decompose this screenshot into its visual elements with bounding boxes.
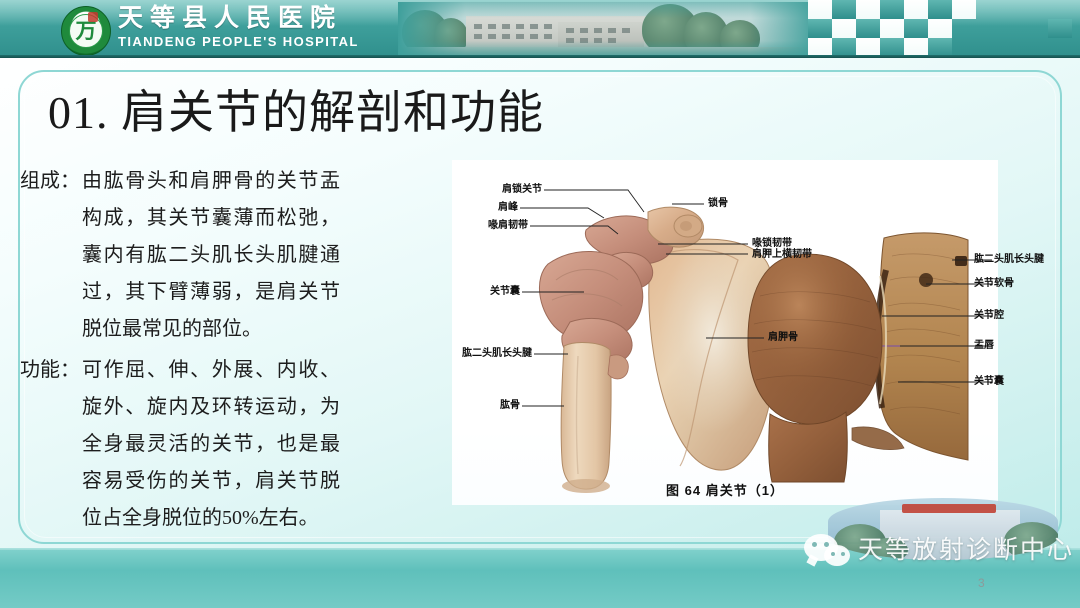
paragraph-text-function: 可作屈、伸、外展、内收、旋外、旋内及环转运动，为全身最灵活的关节，也是最容易受伤…: [82, 352, 340, 537]
anatomy-label-biceps-long-head-tendon-left: 肱二头肌长头腱: [452, 348, 532, 360]
watermark-text: 天等放射诊断中心: [858, 536, 1074, 566]
page-title: 01. 肩关节的解剖和功能: [48, 84, 544, 142]
anatomy-label-humerus: 肱骨: [452, 400, 520, 412]
wechat-watermark: 天等放射诊断中心: [800, 498, 1066, 584]
presentation-slide: 万 天等县人民医院 TIANDENG PEOPLE'S HOSPITAL: [0, 0, 1080, 608]
anatomy-label-scapula: 肩胛骨: [768, 332, 798, 344]
hospital-building-photo: [398, 2, 818, 56]
slide-header: 万 天等县人民医院 TIANDENG PEOPLE'S HOSPITAL: [0, 0, 1080, 58]
hospital-name-cn: 天等县人民医院: [118, 4, 359, 33]
paragraph-function: 功能： 可作屈、伸、外展、内收、旋外、旋内及环转运动，为全身最灵活的关节，也是最…: [20, 352, 340, 537]
page-number: 3: [978, 576, 985, 590]
figure-caption: 图 64 肩关节（1）: [452, 480, 998, 499]
anatomy-label-joint-capsule-right: 关节囊: [974, 376, 1004, 388]
paragraph-text-composition: 由肱骨头和肩胛骨的关节盂构成，其关节囊薄而松弛，囊内有肱二头肌长头肌腱通过，其下…: [82, 163, 340, 348]
hospital-name-en: TIANDENG PEOPLE'S HOSPITAL: [118, 33, 359, 50]
anatomy-label-joint-capsule-left: 关节囊: [452, 286, 520, 298]
anatomy-label-acromion: 肩峰: [452, 202, 518, 214]
paragraph-label-composition: 组成：: [20, 163, 82, 200]
hospital-logo-icon: 万: [58, 6, 114, 56]
hospital-name-block: 天等县人民医院 TIANDENG PEOPLE'S HOSPITAL: [118, 4, 359, 50]
wechat-icon: [804, 534, 852, 568]
logo-red-mark: [88, 12, 98, 22]
anatomy-label-coracoacromial-ligament: 喙肩韧带: [452, 220, 528, 232]
anatomy-label-glenoid-labrum: 盂唇: [974, 340, 994, 352]
paragraph-label-function: 功能：: [20, 352, 82, 389]
anatomy-label-acromioclavicular-joint: 肩锁关节: [452, 184, 542, 196]
anatomy-label-superior-transverse-scapular-ligament: 肩胛上横韧带: [752, 249, 812, 261]
checkerboard-pattern: [808, 0, 1080, 58]
anatomy-label-joint-cavity: 关节腔: [974, 310, 1004, 322]
paragraph-composition: 组成： 由肱骨头和肩胛骨的关节盂构成，其关节囊薄而松弛，囊内有肱二头肌长头肌腱通…: [20, 163, 340, 348]
anatomy-label-clavicle: 锁骨: [708, 198, 728, 210]
anatomy-figure: 肩锁关节 肩峰 喙肩韧带 关节囊 肱二头肌长头腱 肱骨 锁骨 喙锁韧带 肩胛上横…: [452, 160, 998, 505]
shoulder-anatomy-illustration: [452, 160, 998, 505]
anatomy-label-articular-cartilage: 关节软骨: [974, 278, 1014, 290]
anatomy-label-biceps-long-head-tendon-right: 肱二头肌长头腱: [974, 254, 1044, 266]
